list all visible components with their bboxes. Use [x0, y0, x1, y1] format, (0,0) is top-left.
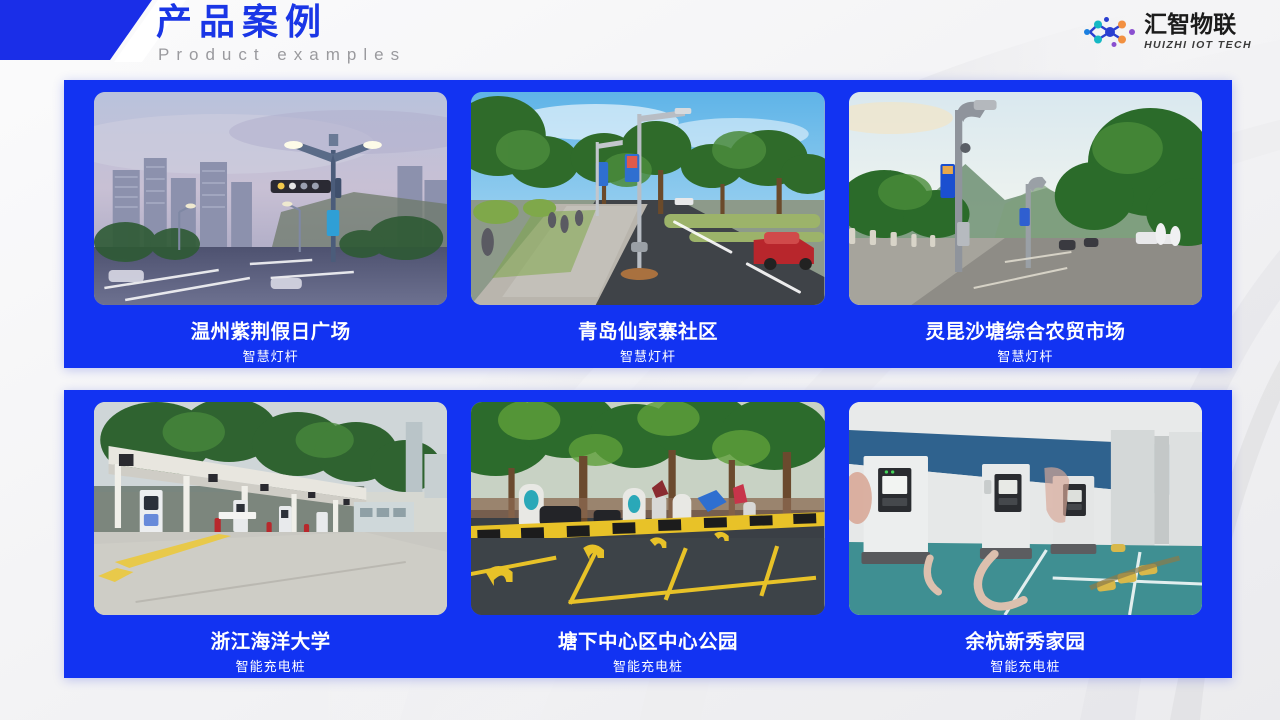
case-thumbnail-park-parking[interactable]: [471, 402, 824, 615]
case-card[interactable]: 余杭新秀家园 智能充电桩: [837, 402, 1214, 678]
case-card[interactable]: 灵昆沙塘综合农贸市场 智慧灯杆: [837, 92, 1214, 368]
page-title-block: 产品案例 Product examples: [156, 2, 406, 66]
case-card[interactable]: 浙江海洋大学 智能充电桩: [82, 402, 459, 678]
page-title: 产品案例: [156, 2, 406, 44]
brand-name-en: HUIZHI IOT TECH: [1144, 39, 1252, 52]
case-subtitle: 智能充电桩: [236, 660, 306, 676]
case-title: 浙江海洋大学: [211, 630, 331, 654]
case-row: 浙江海洋大学 智能充电桩: [64, 390, 1232, 678]
case-subtitle: 智慧灯杆: [620, 350, 676, 366]
case-card[interactable]: 温州紫荆假日广场 智慧灯杆: [82, 92, 459, 368]
page-header: 产品案例 Product examples 汇智物联 HUIZ: [0, 0, 1280, 72]
case-thumbnail-dusk-city-street[interactable]: [94, 92, 447, 305]
molecule-network-icon: [1083, 12, 1137, 52]
case-title: 灵昆沙塘综合农贸市场: [925, 320, 1125, 344]
case-title: 青岛仙家寨社区: [578, 320, 718, 344]
brand-logo: 汇智物联 HUIZHI IOT TECH: [1083, 12, 1252, 52]
case-thumbnail-market-road[interactable]: [849, 92, 1202, 305]
case-panel-row-2: 浙江海洋大学 智能充电桩: [64, 390, 1232, 678]
case-subtitle: 智慧灯杆: [243, 350, 299, 366]
case-card[interactable]: 塘下中心区中心公园 智能充电桩: [459, 402, 836, 678]
case-subtitle: 智能充电桩: [990, 660, 1060, 676]
case-subtitle: 智能充电桩: [613, 660, 683, 676]
case-title: 塘下中心区中心公园: [558, 630, 738, 654]
case-panel-row-1: 温州紫荆假日广场 智慧灯杆: [64, 80, 1232, 368]
case-card[interactable]: 青岛仙家寨社区 智慧灯杆: [459, 92, 836, 368]
brand-name-cn: 汇智物联: [1144, 13, 1252, 38]
case-row: 温州紫荆假日广场 智慧灯杆: [64, 80, 1232, 368]
case-title: 余杭新秀家园: [965, 630, 1085, 654]
case-title: 温州紫荆假日广场: [191, 320, 351, 344]
case-thumbnail-charging-canopy[interactable]: [94, 402, 447, 615]
case-subtitle: 智慧灯杆: [997, 350, 1053, 366]
brand-logo-text: 汇智物联 HUIZHI IOT TECH: [1144, 13, 1252, 52]
case-thumbnail-indoor-garage[interactable]: [849, 402, 1202, 615]
case-thumbnail-community-road[interactable]: [471, 92, 824, 305]
page-subtitle: Product examples: [156, 44, 406, 66]
